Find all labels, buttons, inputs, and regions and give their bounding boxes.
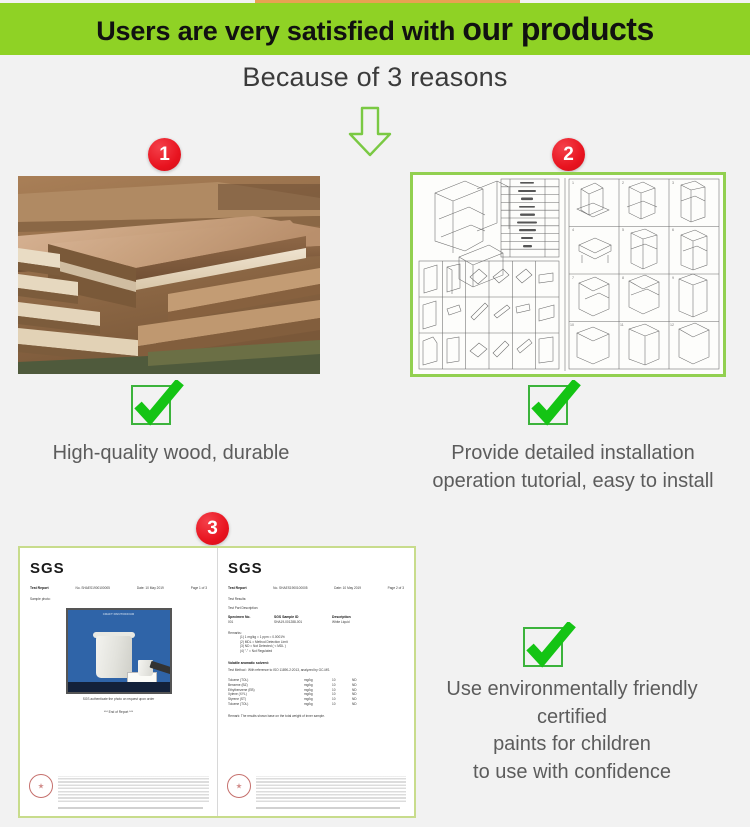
svg-text:3: 3 xyxy=(672,181,674,185)
sgs-right-title: Test Report xyxy=(228,586,247,590)
bucket-body-shape xyxy=(96,636,132,678)
reason-3-caption-line-2: certified xyxy=(398,704,746,732)
sgs-sub-mdl-6: 10 xyxy=(332,702,346,707)
svg-text:10: 10 xyxy=(570,323,574,327)
svg-text:1: 1 xyxy=(572,181,574,185)
badge-number-3: 3 xyxy=(196,512,229,545)
paint-bucket-photo: CRAFT PAINT/ODOUR xyxy=(66,608,172,694)
reason-3-caption-line-3: paints for children xyxy=(398,731,746,759)
sgs-test-report: SGS Test Report No. SHAES1900100005 Date… xyxy=(18,546,416,818)
sgs-left-title: Test Report xyxy=(30,586,49,590)
svg-text:12: 12 xyxy=(670,323,674,327)
svg-text:8: 8 xyxy=(622,276,624,280)
reason-2-caption: Provide detailed installation operation … xyxy=(402,440,744,495)
sgs-footer-line-right xyxy=(256,807,400,809)
svg-text:2: 2 xyxy=(622,181,624,185)
sgs-th-description: Description xyxy=(332,615,378,619)
sgs-report-page-left: SGS Test Report No. SHAES1900100005 Date… xyxy=(20,548,217,816)
assembly-instruction-diagram: 123 456 789 101112 xyxy=(410,172,726,377)
sgs-right-date: Date: 10 May 2019 xyxy=(334,586,361,591)
sgs-left-date: Date: 10 May 2019 xyxy=(137,586,164,591)
sgs-stamp-left xyxy=(29,774,53,798)
page-title-normal: Users are very satisfied with xyxy=(96,16,462,46)
sgs-stamp-right xyxy=(227,774,251,798)
arrow-down-icon xyxy=(345,106,395,158)
svg-text:9: 9 xyxy=(672,276,674,280)
sgs-left-page: Page 1 of 3 xyxy=(191,586,207,591)
sgs-parts-label: Test Part Description: xyxy=(228,606,404,611)
sgs-th-sampleid: SGS Sample ID xyxy=(274,615,326,619)
header-banner: Users are very satisfied with our produc… xyxy=(0,3,750,55)
svg-text:4: 4 xyxy=(572,228,574,232)
wood-boards-photo xyxy=(18,176,320,374)
sgs-logo-left: SGS xyxy=(30,560,207,577)
badge-number-2: 2 xyxy=(552,138,585,171)
page-title-strong: our products xyxy=(462,11,653,47)
sgs-left-end-note: *** End of Report *** xyxy=(30,710,207,715)
reason-3-caption: Use environmentally friendly certified p… xyxy=(398,676,746,786)
sgs-remark-4: (4) "-" = Not Regulated xyxy=(228,649,404,654)
check-mark-icon-3 xyxy=(520,622,578,672)
sgs-th-specimen: Specimen No. xyxy=(228,615,268,619)
check-mark-icon-1 xyxy=(128,380,186,430)
sgs-footer-line-left xyxy=(58,807,203,809)
reason-1-caption: High-quality wood, durable xyxy=(6,440,336,468)
sgs-right-refno: No. SHAES1900100005 xyxy=(273,586,307,591)
reason-1-caption-line-1: High-quality wood, durable xyxy=(6,440,336,468)
svg-text:11: 11 xyxy=(620,323,624,327)
sgs-footer-remark: Remark: The results shown base on the to… xyxy=(228,714,404,719)
check-mark-icon-2 xyxy=(525,380,583,430)
sgs-method-note: Test Method : With reference to ISO 1189… xyxy=(228,668,404,673)
reason-2-caption-line-2: operation tutorial, easy to install xyxy=(402,468,744,496)
sgs-left-photo-caption: SGS authenticate the photo on request up… xyxy=(30,697,207,702)
badge-number-1: 1 xyxy=(148,138,181,171)
svg-text:5: 5 xyxy=(622,228,624,232)
paint-photo-title: CRAFT PAINT/ODOUR xyxy=(68,612,170,616)
svg-text:7: 7 xyxy=(572,276,574,280)
reason-3-caption-line-4: to use with confidence xyxy=(398,759,746,787)
sgs-footer-text-left xyxy=(58,776,209,802)
sgs-td-sampleid: SHA19-001288-001 xyxy=(274,620,326,625)
page-title: Users are very satisfied with our produc… xyxy=(96,11,654,48)
sgs-td-description: White Liquid xyxy=(332,620,378,625)
reason-3-caption-line-1: Use environmentally friendly xyxy=(398,676,746,704)
sgs-results-label: Test Results: xyxy=(228,597,404,602)
sgs-sub-unit-6: mg/kg xyxy=(304,702,326,707)
sgs-footer-text-right xyxy=(256,776,406,802)
sgs-left-refno: No. SHAES1900100005 xyxy=(76,586,110,591)
photo-floor-shape xyxy=(68,682,170,692)
sgs-volatile-label: Volatile aromatic solvent: xyxy=(228,661,404,665)
sgs-logo-right: SGS xyxy=(228,560,404,577)
subtitle: Because of 3 reasons xyxy=(0,62,750,93)
sgs-report-page-right: SGS Test Report No. SHAES1900100005 Date… xyxy=(217,548,414,816)
sgs-substance-table: Toluene (TOL) mg/kg 10 ND Benzene (BZ) m… xyxy=(228,678,404,706)
reason-2-caption-line-1: Provide detailed installation xyxy=(402,440,744,468)
svg-text:6: 6 xyxy=(672,228,674,232)
sgs-td-specimen: 001 xyxy=(228,620,268,625)
sgs-sub-res-6: ND xyxy=(352,702,366,707)
sgs-right-page: Page 2 of 3 xyxy=(388,586,404,591)
sgs-sub-name-6: Toluene (TOL) xyxy=(228,702,298,707)
sgs-left-section-label: Sample photo: xyxy=(30,597,207,602)
